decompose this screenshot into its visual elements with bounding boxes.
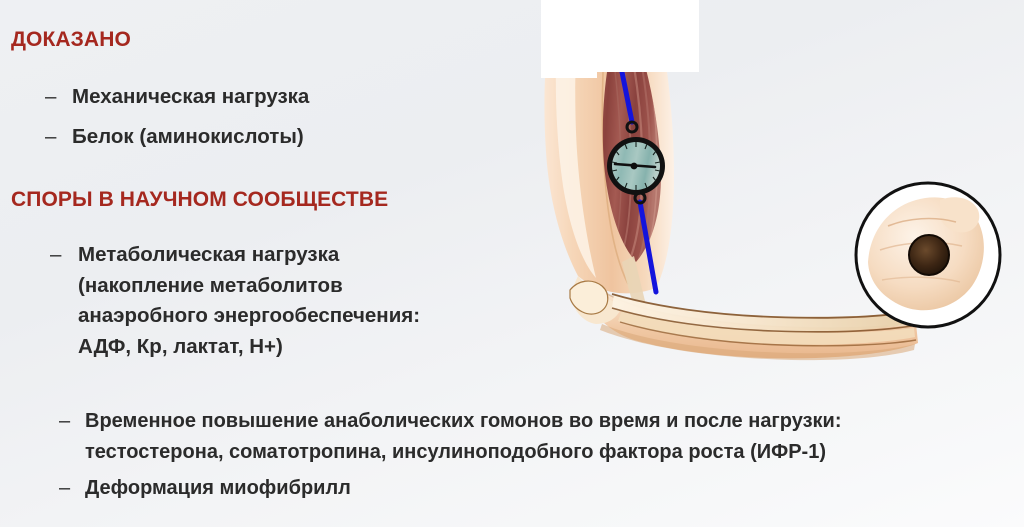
list-item: – Деформация миофибрилл xyxy=(59,473,351,504)
heading-debated: СПОРЫ В НАУЧНОМ СООБЩЕСТВЕ xyxy=(11,188,388,212)
bullet-dash: – xyxy=(59,406,85,437)
list-item: – Механическая нагрузка xyxy=(45,82,309,112)
list-item: – Временное повышение анаболических гомо… xyxy=(59,406,989,468)
bullet-dash: – xyxy=(45,122,72,152)
list-item-label: Временное повышение анаболических гомоно… xyxy=(85,406,841,468)
bullet-dash: – xyxy=(59,473,85,504)
list-item-label: Метаболическая нагрузка (накопление мета… xyxy=(78,240,420,362)
bullet-dash: – xyxy=(45,82,72,112)
list-item-label: Механическая нагрузка xyxy=(72,82,309,112)
list-item: – Белок (аминокислоты) xyxy=(45,122,304,152)
list-item-label: Белок (аминокислоты) xyxy=(72,122,304,152)
bullet-dash: – xyxy=(50,240,78,271)
text-content: ДОКАЗАНО – Механическая нагрузка – Белок… xyxy=(0,0,1024,527)
list-item-label: Деформация миофибрилл xyxy=(85,473,351,504)
list-item: – Метаболическая нагрузка (накопление ме… xyxy=(50,240,420,362)
heading-proven: ДОКАЗАНО xyxy=(11,28,131,52)
slide-root: ДОКАЗАНО – Механическая нагрузка – Белок… xyxy=(0,0,1024,527)
